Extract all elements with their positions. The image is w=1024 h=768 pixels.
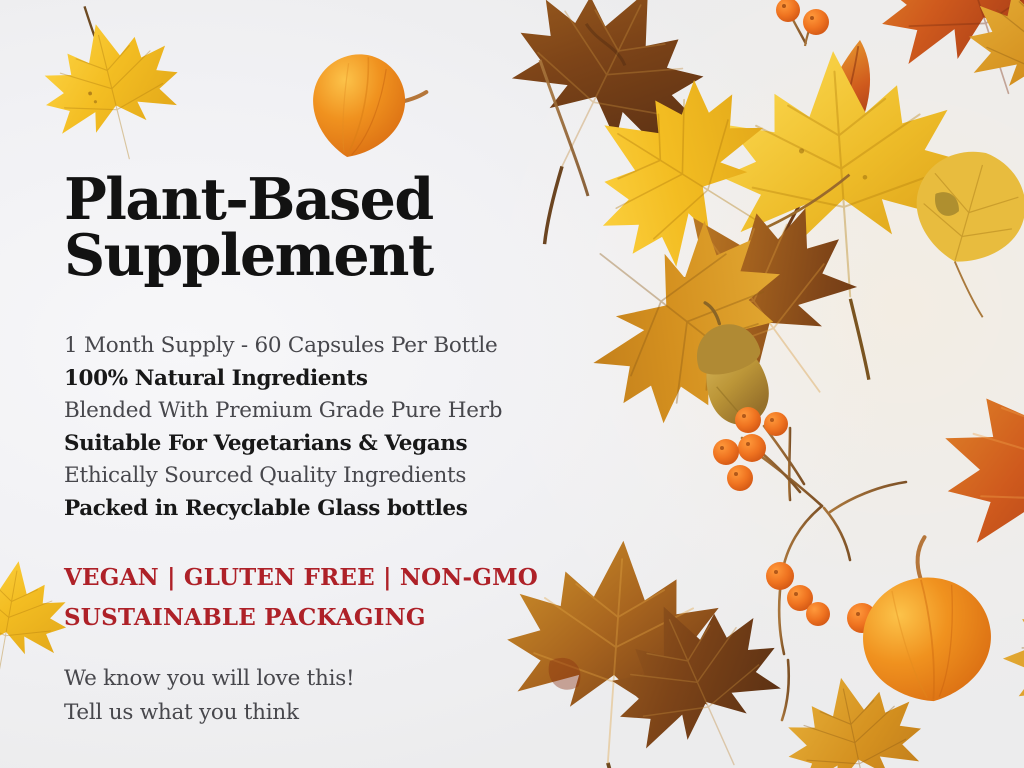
list-item: Ethically Sourced Quality Ingredients (64, 460, 534, 493)
headline-line-2: Supplement (64, 228, 534, 284)
list-item: 1 Month Supply - 60 Capsules Per Bottle (64, 330, 534, 363)
closing-block: We know you will love this! Tell us what… (64, 662, 534, 730)
list-item: Blended With Premium Grade Pure Herb (64, 395, 534, 428)
product-banner: Autumn flat-lay photograph of pressed ma… (0, 0, 1024, 768)
page-title: Plant-Based Supplement (64, 172, 534, 285)
list-item: Suitable For Vegetarians & Vegans (64, 428, 534, 461)
claims-block: VEGAN | GLUTEN FREE | NON-GMO SUSTAINABL… (64, 558, 534, 638)
feature-list: 1 Month Supply - 60 Capsules Per Bottle … (64, 330, 534, 525)
closing-line-1: We know you will love this! (64, 662, 534, 696)
claims-line-1: VEGAN | GLUTEN FREE | NON-GMO (64, 558, 534, 598)
claims-line-2: SUSTAINABLE PACKAGING (64, 598, 534, 638)
closing-line-2: Tell us what you think (64, 696, 534, 730)
copy-column: Plant-Based Supplement 1 Month Supply - … (64, 0, 534, 768)
list-item: Packed in Recyclable Glass bottles (64, 493, 534, 526)
list-item: 100% Natural Ingredients (64, 363, 534, 396)
